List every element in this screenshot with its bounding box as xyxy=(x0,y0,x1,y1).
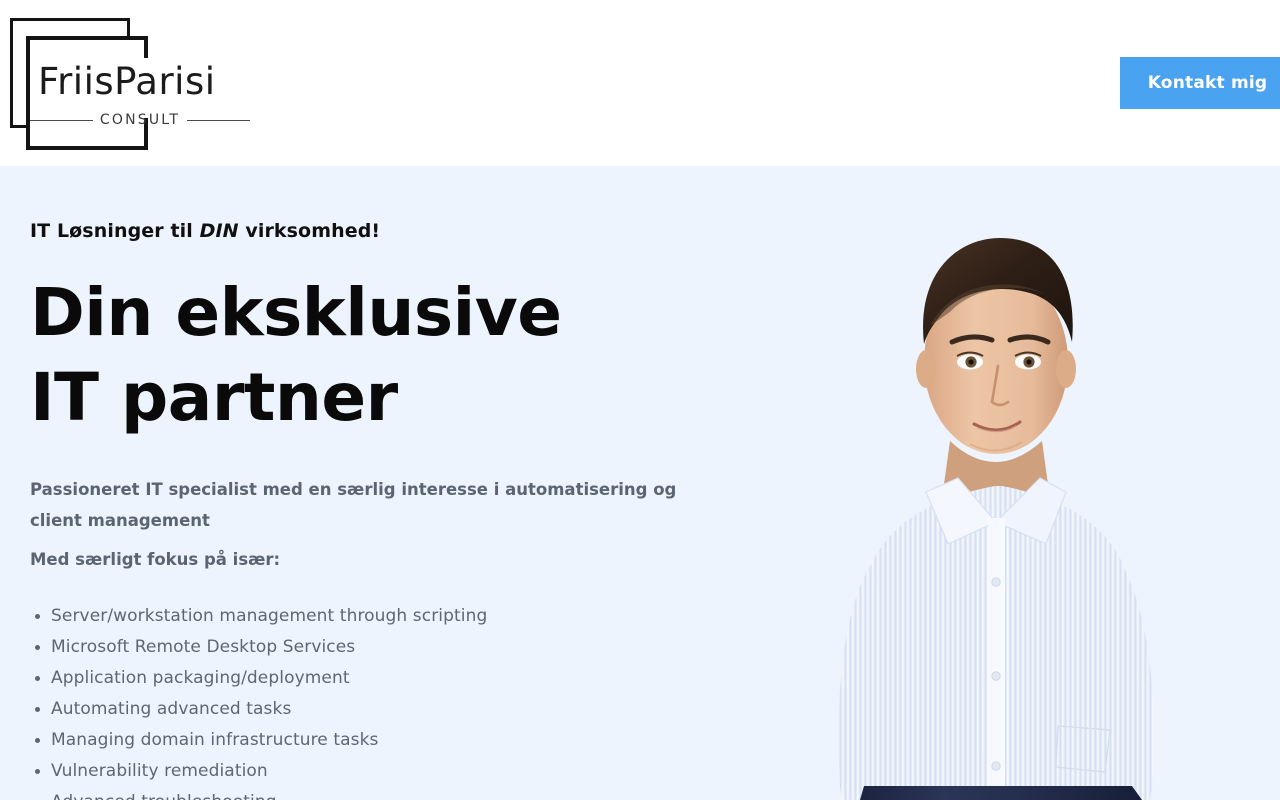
hero-section: IT Løsninger til DIN virksomhed! Din eks… xyxy=(0,166,1280,800)
hero-lead-paragraph: Passioneret IT specialist med en særlig … xyxy=(30,474,690,536)
hero-focus-label: Med særligt fokus på især: xyxy=(30,544,730,575)
logo-rule-right xyxy=(187,120,250,121)
list-item: Application packaging/deployment xyxy=(51,663,730,694)
hero-copy: IT Løsninger til DIN virksomhed! Din eks… xyxy=(30,218,730,800)
logo-subtitle-row: CONSULT xyxy=(30,112,250,128)
hero-portrait-image xyxy=(790,166,1280,800)
hero-eyebrow-emphasis: DIN xyxy=(200,220,239,242)
hero-eyebrow: IT Løsninger til DIN virksomhed! xyxy=(30,218,730,244)
list-item: Microsoft Remote Desktop Services xyxy=(51,632,730,663)
contact-button[interactable]: Kontakt mig xyxy=(1120,57,1280,109)
list-item: Automating advanced tasks xyxy=(51,694,730,725)
logo-rule-left xyxy=(30,120,93,121)
list-item: Managing domain infrastructure tasks xyxy=(51,725,730,756)
list-item: Vulnerability remediation xyxy=(51,756,730,787)
hero-eyebrow-before: IT Løsninger til xyxy=(30,220,200,242)
logo-wordmark: FriisParisi xyxy=(38,62,268,102)
hero-eyebrow-after: virksomhed! xyxy=(239,220,381,242)
hero-skill-list: Server/workstation management through sc… xyxy=(30,601,730,800)
list-item: Server/workstation management through sc… xyxy=(51,601,730,632)
logo-subtitle: CONSULT xyxy=(100,112,180,128)
site-header: FriisParisi CONSULT Kontakt mig xyxy=(0,0,1280,166)
page-title: Din eksklusive IT partner xyxy=(30,270,590,440)
list-item: Advanced troubleshooting xyxy=(51,787,730,800)
page-root: FriisParisi CONSULT Kontakt mig IT Løsni… xyxy=(0,0,1280,800)
site-logo[interactable]: FriisParisi CONSULT xyxy=(10,18,260,150)
